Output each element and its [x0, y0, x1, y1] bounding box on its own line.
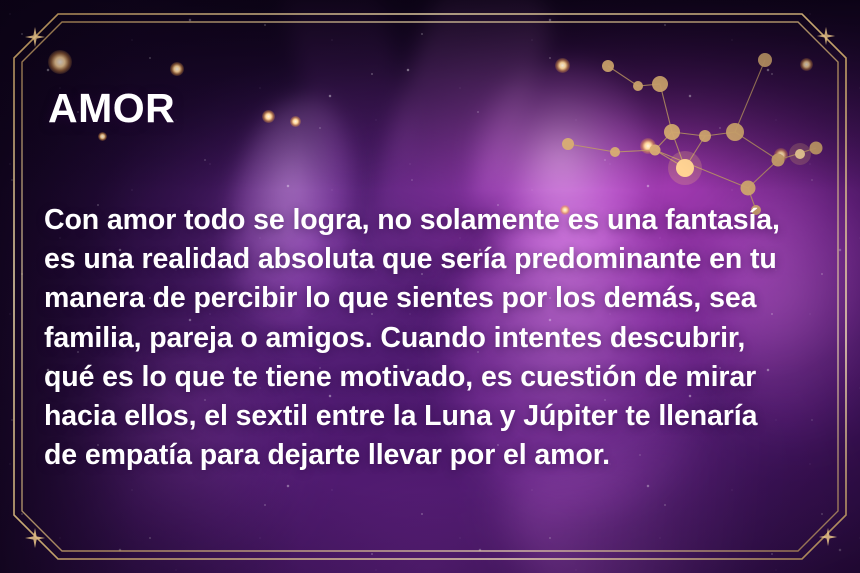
card-content: AMOR Con amor todo se logra, no solament…: [44, 88, 804, 475]
page-title: AMOR: [48, 88, 804, 129]
horoscope-amor-card: AMOR Con amor todo se logra, no solament…: [0, 0, 860, 573]
horoscope-body-text: Con amor todo se logra, no solamente es …: [44, 201, 784, 475]
